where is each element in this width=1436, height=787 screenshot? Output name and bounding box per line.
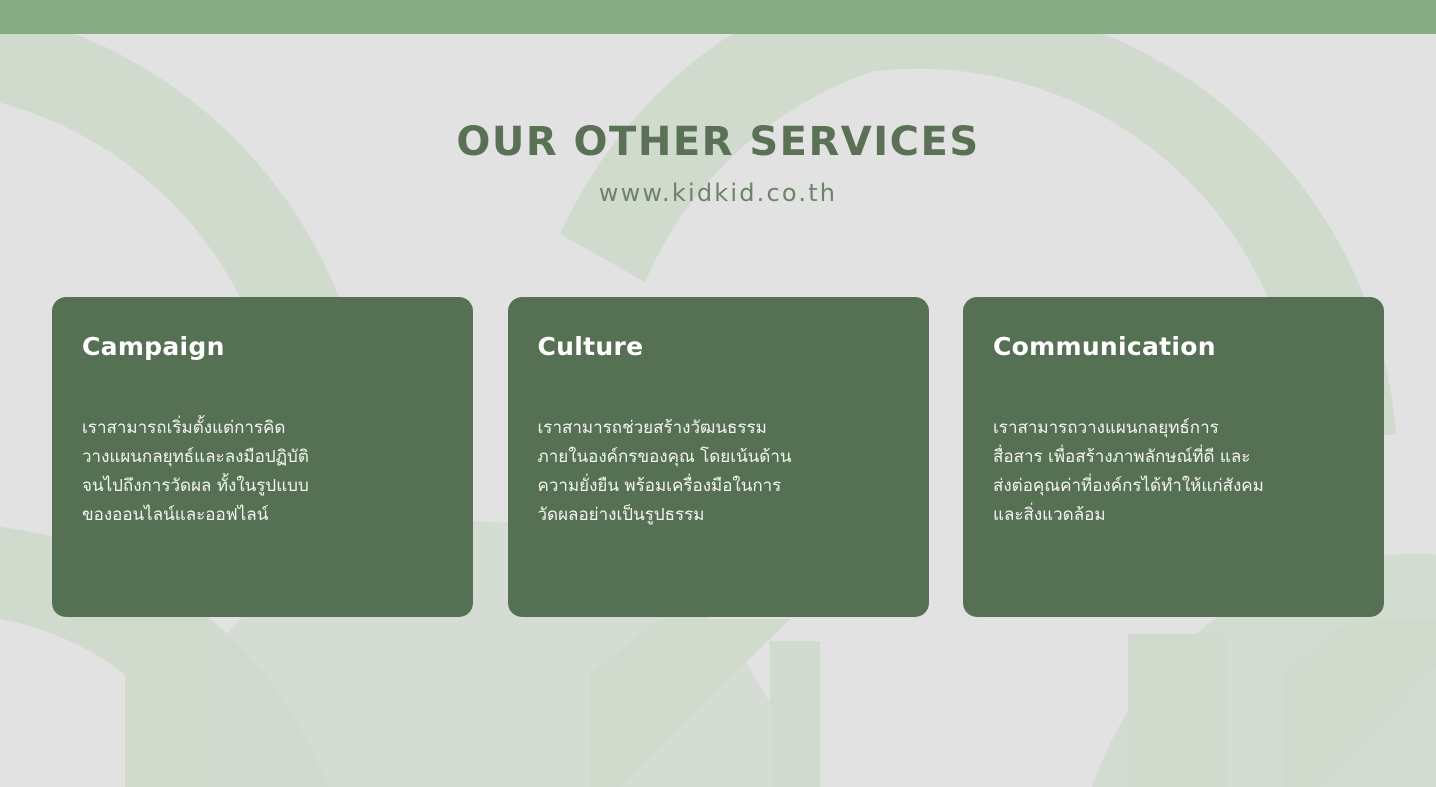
card-title: Campaign xyxy=(82,330,443,364)
card-title: Culture xyxy=(538,330,899,364)
card-description: เราสามารถวางแผนกลยุทธ์การ สื่อสาร เพื่อส… xyxy=(993,414,1354,530)
service-card-campaign[interactable]: Campaign เราสามารถเริ่มตั้งแต่การคิด วาง… xyxy=(52,297,473,617)
slide-header: OUR OTHER SERVICES www.kidkid.co.th xyxy=(0,116,1436,210)
card-title: Communication xyxy=(993,330,1354,364)
site-url: www.kidkid.co.th xyxy=(0,176,1436,210)
page-title: OUR OTHER SERVICES xyxy=(0,116,1436,168)
service-card-list: Campaign เราสามารถเริ่มตั้งแต่การคิด วาง… xyxy=(52,297,1384,620)
service-card-culture[interactable]: Culture เราสามารถช่วยสร้างวัฒนธรรม ภายใน… xyxy=(508,297,929,617)
slide-canvas: OUR OTHER SERVICES www.kidkid.co.th Camp… xyxy=(0,0,1436,787)
service-card-communication[interactable]: Communication เราสามารถวางแผนกลยุทธ์การ … xyxy=(963,297,1384,617)
card-description: เราสามารถเริ่มตั้งแต่การคิด วางแผนกลยุทธ… xyxy=(82,414,443,530)
card-description: เราสามารถช่วยสร้างวัฒนธรรม ภายในองค์กรขอ… xyxy=(538,414,899,530)
top-accent-band xyxy=(0,0,1436,34)
